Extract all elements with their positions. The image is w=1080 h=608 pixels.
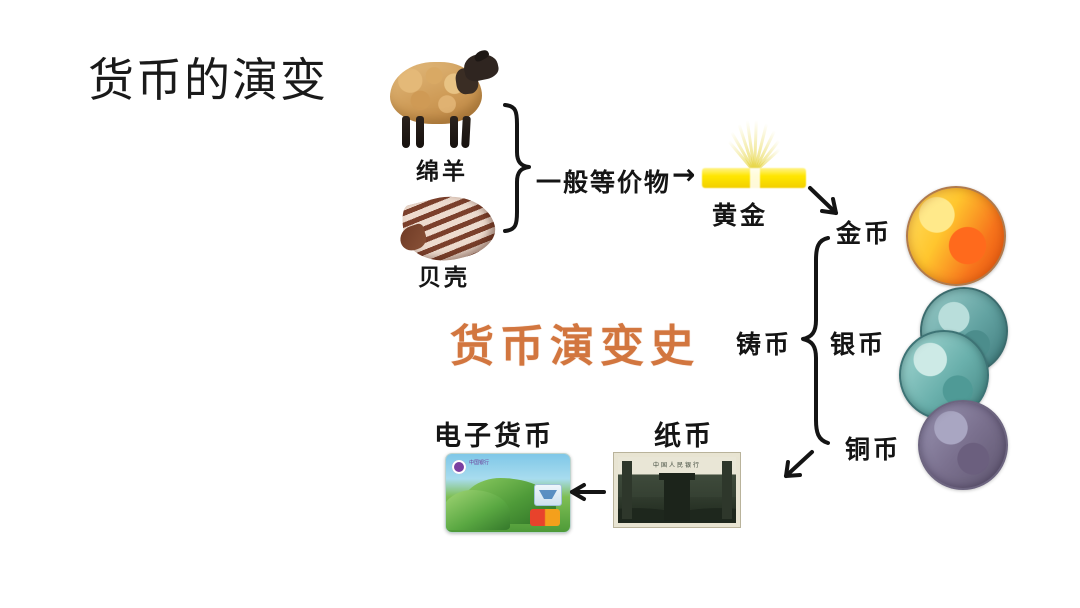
- sheep-leg: [416, 116, 424, 148]
- gold-ingot-illustration: [690, 116, 820, 194]
- label-shell: 贝壳: [418, 258, 470, 292]
- label-electronic-money: 电子货币: [434, 414, 554, 453]
- bank-logo-icon: [452, 460, 466, 474]
- label-paper-money: 纸币: [654, 414, 714, 453]
- banknote-illustration: 中国人民银行: [613, 452, 741, 528]
- label-gold-coin: 金币: [836, 214, 892, 250]
- shell-illustration: [404, 196, 500, 266]
- center-title: 货币演变史: [450, 310, 700, 374]
- label-sheep: 绵羊: [416, 152, 468, 186]
- label-cast-coin: 铸币: [736, 325, 792, 361]
- label-silver-coin: 银币: [830, 325, 886, 361]
- arrow-copper-to-paper-shaft: [786, 452, 812, 476]
- arrow-gold-to-coin-head: [822, 199, 836, 213]
- copper-coin-illustration: [918, 400, 1008, 490]
- slide-canvas: 货币的演变 绵羊 贝壳 一般等价物 → 黄金 金币 铸币 银币 铜币: [0, 0, 1080, 608]
- card-scheme-icon: [530, 509, 560, 526]
- sheep-leg: [402, 116, 410, 148]
- arrow-paper-to-card-head: [572, 485, 584, 499]
- sheep-leg: [461, 116, 471, 148]
- sheep-leg: [450, 116, 458, 148]
- banknote-face: 中国人民银行: [618, 457, 736, 523]
- bank-name: 中国银行: [469, 460, 489, 466]
- gold-coin-illustration: [906, 186, 1006, 286]
- card-network-icon: [534, 484, 562, 506]
- page-title: 货币的演变: [88, 44, 328, 110]
- label-general-equivalent: 一般等价物: [536, 163, 671, 199]
- label-copper-coin: 铜币: [845, 430, 901, 466]
- label-gold: 黄金: [712, 196, 768, 232]
- arrow-copper-to-paper-head: [786, 462, 800, 476]
- gold-bar: [702, 168, 806, 188]
- sheep-illustration: [388, 48, 508, 153]
- banknote-inscription: 中国人民银行: [618, 460, 736, 469]
- bank-card-illustration: 中国银行: [445, 453, 571, 533]
- banknote-gate: [664, 477, 690, 521]
- brace-right: [803, 238, 828, 443]
- banknote-edge: [622, 461, 632, 519]
- brace-left: [505, 105, 529, 231]
- banknote-edge: [722, 461, 732, 519]
